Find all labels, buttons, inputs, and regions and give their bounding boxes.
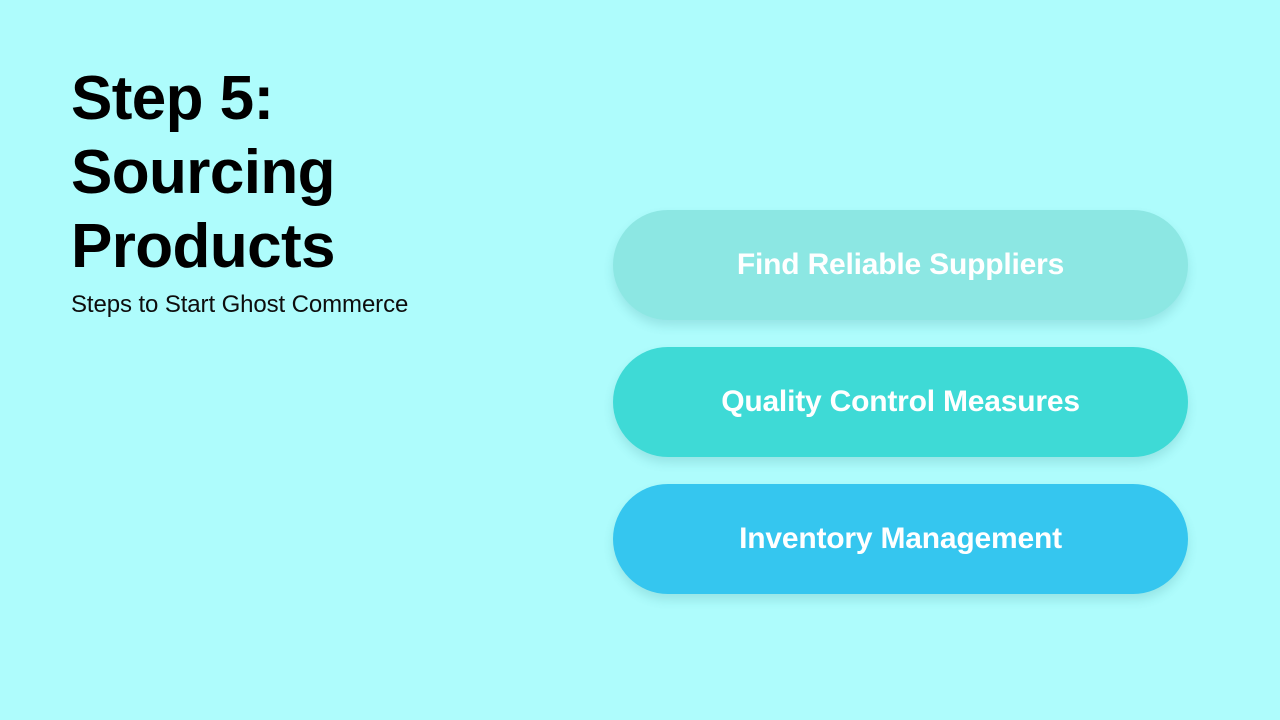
pill-label: Inventory Management bbox=[739, 521, 1062, 557]
pill-label: Quality Control Measures bbox=[721, 384, 1080, 420]
pill-item-inventory-management[interactable]: Inventory Management bbox=[613, 484, 1188, 594]
slide-canvas: Step 5: Sourcing Products Steps to Start… bbox=[0, 0, 1280, 720]
pill-item-quality-control-measures[interactable]: Quality Control Measures bbox=[613, 347, 1188, 457]
title-block: Step 5: Sourcing Products Steps to Start… bbox=[71, 62, 541, 320]
pill-list: Find Reliable Suppliers Quality Control … bbox=[613, 210, 1188, 594]
page-subtitle: Steps to Start Ghost Commerce bbox=[71, 284, 541, 320]
pill-item-find-reliable-suppliers[interactable]: Find Reliable Suppliers bbox=[613, 210, 1188, 320]
pill-label: Find Reliable Suppliers bbox=[737, 247, 1064, 283]
page-title: Step 5: Sourcing Products bbox=[71, 62, 331, 284]
